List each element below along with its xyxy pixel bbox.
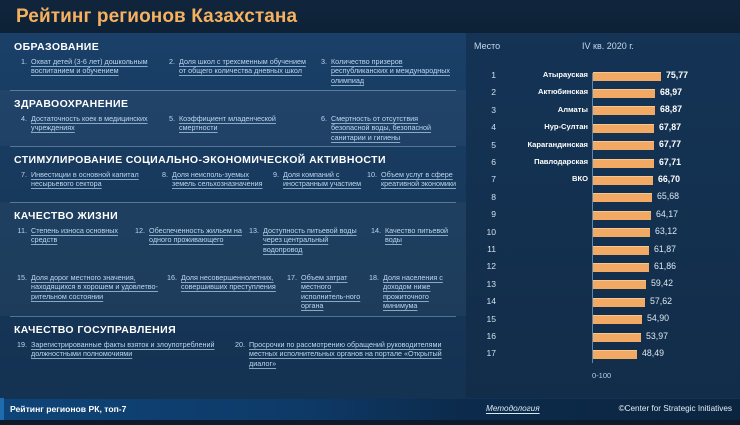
bar-value-label: 53,97 <box>646 331 668 341</box>
chart-row: 865,68 <box>466 189 740 206</box>
indicator-label[interactable]: Количество призеров республиканских и ме… <box>331 57 456 85</box>
bar-value-label: 59,42 <box>651 278 673 288</box>
indicator-section: ЗДРАВООХРАНЕНИЕ4.Достаточность коек в ме… <box>0 90 466 146</box>
indicator-item[interactable]: 4.Достаточность коек в медицинских учреж… <box>14 114 159 133</box>
chart-bar <box>593 211 651 220</box>
indicator-label[interactable]: Доля школ с трехсменным обучением от общ… <box>179 57 312 76</box>
indicator-list: 7.Инвестиции в основной капитал несырьев… <box>14 170 454 202</box>
indicator-section: СТИМУЛИРОВАНИЕ СОЦИАЛЬНО-ЭКОНОМИЧЕСКОЙ А… <box>0 146 466 202</box>
infographic-page: Рейтинг регионов Казахстана ОБРАЗОВАНИЕ1… <box>0 0 740 425</box>
chart-row: 5Карагандинская67,77 <box>466 137 740 154</box>
indicator-number: 18. <box>366 273 379 282</box>
indicator-number: 15. <box>14 273 27 282</box>
indicator-item[interactable]: 18.Доля населения с доходом ниже прожито… <box>366 273 458 311</box>
bar-value-label: 67,87 <box>659 122 681 132</box>
title-bar: Рейтинг регионов Казахстана <box>0 0 740 34</box>
chart-row: 1063,12 <box>466 224 740 241</box>
chart-bar <box>593 315 642 324</box>
region-label: Нур-Султан <box>500 122 588 131</box>
indicator-item[interactable]: 10.Объем услуг в сфере креативной эконом… <box>364 170 459 189</box>
indicator-number: 20. <box>232 340 245 349</box>
rank-number: 17 <box>470 348 496 358</box>
indicator-number: 14. <box>368 226 381 235</box>
bar-value-label: 67,77 <box>659 139 681 149</box>
indicator-section: КАЧЕСТВО ГОСУПРАВЛЕНИЯ19.Зарегистрирован… <box>0 316 466 398</box>
indicator-list: 4.Достаточность коек в медицинских учреж… <box>14 114 454 146</box>
chart-bar <box>593 141 654 150</box>
indicator-list: 11.Степень износа основных средств12.Обе… <box>14 226 454 316</box>
indicator-item[interactable]: 13.Доступность питьевой воды через центр… <box>246 226 368 254</box>
region-label: Актюбинская <box>500 87 588 96</box>
rank-number: 3 <box>470 105 496 115</box>
indicator-item[interactable]: 5.Коэффициент младенческой смертности <box>162 114 312 133</box>
chart-bar <box>593 106 655 115</box>
indicator-item[interactable]: 11.Степень износа основных средств <box>14 226 132 245</box>
indicators-panel: ОБРАЗОВАНИЕ1.Охват детей (3-6 лет) дошко… <box>0 33 466 398</box>
region-label: Павлодарская <box>500 157 588 166</box>
indicator-number: 11. <box>14 226 27 235</box>
indicator-label[interactable]: Доступность питьевой воды через централь… <box>263 226 368 254</box>
chart-bar <box>593 298 645 307</box>
section-title: КАЧЕСТВО ЖИЗНИ <box>14 210 452 222</box>
rank-number: 6 <box>470 157 496 167</box>
chart-bar <box>593 350 637 359</box>
rank-number: 8 <box>470 192 496 202</box>
indicator-item[interactable]: 2.Доля школ с трехсменным обучением от о… <box>162 57 312 76</box>
indicator-number: 4. <box>14 114 27 123</box>
rank-number: 7 <box>470 174 496 184</box>
indicator-section: ОБРАЗОВАНИЕ1.Охват детей (3-6 лет) дошко… <box>0 33 466 90</box>
chart-bar <box>593 280 646 289</box>
indicator-label[interactable]: Достаточность коек в медицинских учрежде… <box>31 114 159 133</box>
chart-bar <box>593 159 654 168</box>
indicator-label[interactable]: Доля неисполь-зуемых земель сельхозназна… <box>172 170 265 189</box>
indicator-item[interactable]: 6.Смертность от отсутствия безопасной во… <box>314 114 456 142</box>
indicator-item[interactable]: 16.Доля несовершеннолетних, совершивших … <box>164 273 282 292</box>
bar-value-label: 66,70 <box>658 174 680 184</box>
chart-header-rank: Место <box>474 41 500 51</box>
bar-value-label: 75,77 <box>666 70 688 80</box>
indicator-label[interactable]: Охват детей (3-6 лет) дошкольным воспита… <box>31 57 159 76</box>
indicator-label[interactable]: Просрочки по рассмотрению обращений руко… <box>249 340 454 368</box>
rank-number: 4 <box>470 122 496 132</box>
indicator-item[interactable]: 19.Зарегистрированные факты взяток и зло… <box>14 340 224 359</box>
indicator-label[interactable]: Степень износа основных средств <box>31 226 132 245</box>
chart-bar <box>593 333 641 342</box>
region-label: ВКО <box>500 174 588 183</box>
chart-bar <box>593 124 654 133</box>
indicator-item[interactable]: 14.Качество питьевой воды <box>368 226 454 245</box>
indicator-number: 9. <box>266 170 279 179</box>
indicator-number: 8. <box>155 170 168 179</box>
rank-number: 5 <box>470 140 496 150</box>
chart-row: 1554,90 <box>466 311 740 328</box>
indicator-list: 1.Охват детей (3-6 лет) дошкольным воспи… <box>14 57 454 90</box>
bar-value-label: 57,62 <box>650 296 672 306</box>
indicator-label[interactable]: Объем затрат местного исполнитель-ного о… <box>301 273 364 311</box>
footer-bar: Рейтинг регионов РК, топ-7 Методология ©… <box>0 398 740 421</box>
chart-row: 964,17 <box>466 206 740 223</box>
rank-number: 9 <box>470 209 496 219</box>
indicator-number: 7. <box>14 170 27 179</box>
indicator-number: 3. <box>314 57 327 66</box>
indicator-label[interactable]: Обеспеченность жильем на одного проживаю… <box>149 226 254 245</box>
page-title: Рейтинг регионов Казахстана <box>16 6 297 28</box>
chart-row: 7ВКО66,70 <box>466 171 740 188</box>
rank-number: 11 <box>470 244 496 254</box>
chart-row: 3Алматы68,87 <box>466 102 740 119</box>
region-label: Карагандинская <box>500 140 588 149</box>
chart-header-period: IV кв. 2020 г. <box>582 41 634 51</box>
footer-caption: Рейтинг регионов РК, топ-7 <box>10 404 126 414</box>
chart-bar <box>593 246 649 255</box>
indicator-item[interactable]: 1.Охват детей (3-6 лет) дошкольным воспи… <box>14 57 159 76</box>
indicator-label[interactable]: Доля дорог местного значения, находящихс… <box>31 273 174 301</box>
indicator-item[interactable]: 3.Количество призеров республиканских и … <box>314 57 456 85</box>
rank-number: 16 <box>470 331 496 341</box>
rank-number: 13 <box>470 279 496 289</box>
indicator-label[interactable]: Качество питьевой воды <box>385 226 454 245</box>
chart-bar <box>593 89 655 98</box>
rank-number: 12 <box>470 261 496 271</box>
indicator-number: 19. <box>14 340 27 349</box>
indicator-item[interactable]: 15.Доля дорог местного значения, находящ… <box>14 273 174 301</box>
chart-bar <box>593 228 650 237</box>
indicator-label[interactable]: Инвестиции в основной капитал несырьевог… <box>31 170 154 189</box>
footer-copyright: ©Center for Strategic Initiatives <box>619 404 732 413</box>
section-title: ЗДРАВООХРАНЕНИЕ <box>14 98 452 110</box>
bar-value-label: 64,17 <box>656 209 678 219</box>
chart-row: 1359,42 <box>466 276 740 293</box>
bottom-edge-strip <box>0 420 740 425</box>
chart-row: 1653,97 <box>466 328 740 345</box>
indicator-number: 13. <box>246 226 259 235</box>
indicator-label[interactable]: Зарегистрированные факты взяток и злоупо… <box>31 340 224 359</box>
indicator-item[interactable]: 7.Инвестиции в основной капитал несырьев… <box>14 170 154 189</box>
indicator-item[interactable]: 17.Объем затрат местного исполнитель-ног… <box>284 273 364 311</box>
indicator-item[interactable]: 8.Доля неисполь-зуемых земель сельхозназ… <box>155 170 265 189</box>
chart-row: 2Актюбинская68,97 <box>466 84 740 101</box>
chart-bar <box>593 263 649 272</box>
chart-bar <box>593 176 653 185</box>
bar-value-label: 61,86 <box>654 261 676 271</box>
chart-row: 1161,87 <box>466 241 740 258</box>
indicator-label[interactable]: Коэффициент младенческой смертности <box>179 114 312 133</box>
rank-number: 1 <box>470 70 496 80</box>
bar-value-label: 67,71 <box>659 157 681 167</box>
chart-row: 1Атырауская75,77 <box>466 67 740 84</box>
indicator-label[interactable]: Доля компаний с иностранным участием <box>283 170 366 189</box>
chart-row: 1261,86 <box>466 258 740 275</box>
region-label: Алматы <box>500 105 588 114</box>
chart-bar <box>593 193 652 202</box>
bar-value-label: 68,97 <box>660 87 682 97</box>
ranking-chart-panel: Место IV кв. 2020 г. 0-100 1Атырауская75… <box>466 33 740 398</box>
chart-bar <box>593 72 661 81</box>
bar-value-label: 63,12 <box>655 226 677 236</box>
region-label: Атырауская <box>500 70 588 79</box>
indicator-number: 2. <box>162 57 175 66</box>
rank-number: 10 <box>470 227 496 237</box>
bar-value-label: 54,90 <box>647 313 669 323</box>
indicator-number: 5. <box>162 114 175 123</box>
indicator-number: 1. <box>14 57 27 66</box>
indicator-label[interactable]: Доля несовершеннолетних, совершивших пре… <box>181 273 282 292</box>
indicator-section: КАЧЕСТВО ЖИЗНИ11.Степень износа основных… <box>0 202 466 316</box>
indicator-number: 10. <box>364 170 377 179</box>
bar-value-label: 68,87 <box>660 104 682 114</box>
bar-value-label: 48,49 <box>642 348 664 358</box>
chart-row: 1457,62 <box>466 293 740 310</box>
footer-accent-bar <box>0 398 4 420</box>
section-title: ОБРАЗОВАНИЕ <box>14 41 452 53</box>
chart-row: 1748,49 <box>466 345 740 362</box>
chart-row: 6Павлодарская67,71 <box>466 154 740 171</box>
indicator-item[interactable]: 9.Доля компаний с иностранным участием <box>266 170 366 189</box>
indicator-number: 17. <box>284 273 297 282</box>
indicator-label[interactable]: Смертность от отсутствия безопасной воды… <box>331 114 456 142</box>
indicator-label[interactable]: Доля населения с доходом ниже прожиточно… <box>383 273 458 311</box>
bar-value-label: 65,68 <box>657 191 679 201</box>
indicator-number: 16. <box>164 273 177 282</box>
chart-row: 4Нур-Султан67,87 <box>466 119 740 136</box>
section-title: КАЧЕСТВО ГОСУПРАВЛЕНИЯ <box>14 324 452 336</box>
section-title: СТИМУЛИРОВАНИЕ СОЦИАЛЬНО-ЭКОНОМИЧЕСКОЙ А… <box>14 154 452 166</box>
indicator-list: 19.Зарегистрированные факты взяток и зло… <box>14 340 454 398</box>
rank-number: 2 <box>470 87 496 97</box>
indicator-number: 12. <box>132 226 145 235</box>
indicator-item[interactable]: 12.Обеспеченность жильем на одного прожи… <box>132 226 254 245</box>
chart-scale-note: 0-100 <box>592 371 611 380</box>
methodology-link[interactable]: Методология <box>486 404 540 413</box>
rank-number: 14 <box>470 296 496 306</box>
rank-number: 15 <box>470 314 496 324</box>
indicator-label[interactable]: Объем услуг в сфере креативной экономики <box>381 170 459 189</box>
bar-value-label: 61,87 <box>654 244 676 254</box>
indicator-number: 6. <box>314 114 327 123</box>
indicator-item[interactable]: 20.Просрочки по рассмотрению обращений р… <box>232 340 454 368</box>
